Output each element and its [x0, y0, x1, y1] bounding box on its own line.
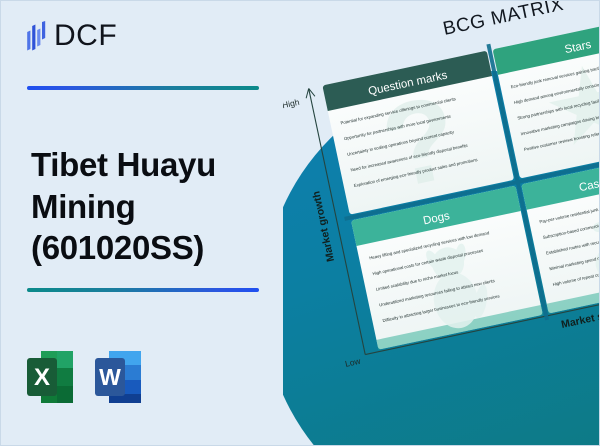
page-title: Tibet Huayu Mining (601020SS) [31, 144, 299, 269]
divider-top [27, 86, 259, 90]
excel-icon[interactable]: X [27, 349, 73, 405]
bcg-matrix-artwork: BCG MATRIX High Low Market growth Market… [283, 1, 600, 446]
svg-text:X: X [34, 364, 50, 391]
matrix-title: BCG MATRIX [441, 1, 566, 40]
svg-text:W: W [99, 364, 121, 390]
divider-bottom [27, 288, 259, 292]
word-icon[interactable]: W [95, 349, 141, 405]
brand-logo[interactable]: DCF [25, 21, 117, 51]
brand-logo-text: DCF [54, 21, 117, 51]
poster-page: DCF Tibet Huayu Mining (601020SS) X [0, 0, 600, 446]
left-content-column: DCF Tibet Huayu Mining (601020SS) X [1, 1, 301, 446]
app-icons-row: X W [27, 349, 141, 405]
bar-chart-slanted-icon [25, 21, 47, 51]
